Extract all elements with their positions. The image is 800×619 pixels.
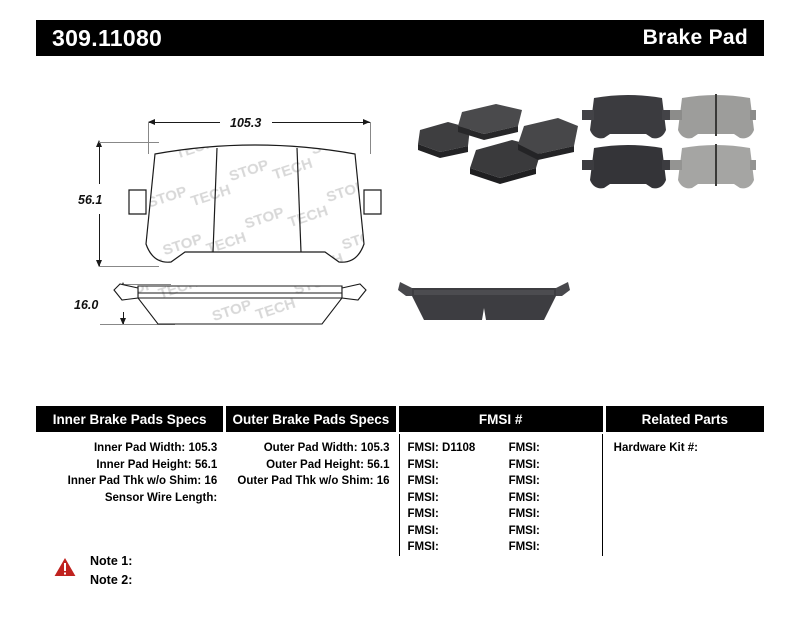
fmsi-label: FMSI: [408,475,439,487]
dimension-width-arrow-left [148,119,155,125]
warning-triangle-icon [52,555,78,579]
fmsi-row: FMSI: [509,457,602,474]
outer-spec-label: Outer Pad Height: [266,459,364,471]
product-type-label: Brake Pad [643,26,748,50]
outer-spec-value: 105.3 [361,442,390,454]
inner-spec-row: Inner Pad Thk w/o Shim: 16 [36,473,217,490]
technical-drawing-area: 105.3 56.1 16.0 STOP TECH [0,62,800,392]
fmsi-label: FMSI: [509,442,540,454]
fmsi-row: FMSI: [408,523,501,540]
fmsi-label: FMSI: [509,475,540,487]
outer-specs-cell: Outer Pad Width: 105.3 Outer Pad Height:… [226,434,395,556]
table-header-related-parts: Related Parts [606,406,764,432]
inner-spec-row: Sensor Wire Length: [36,490,217,507]
inner-spec-label: Sensor Wire Length: [105,492,217,504]
brake-pad-photo-edge-view [398,274,570,334]
fmsi-label: FMSI: [408,541,439,553]
dimension-thickness-label: 16.0 [71,298,101,312]
fmsi-label: FMSI: [509,541,540,553]
fmsi-row: FMSI: [408,490,501,507]
fmsi-label: FMSI: [408,525,439,537]
outer-spec-value: 56.1 [367,459,389,471]
part-number-label: 309.11080 [52,25,162,52]
outer-spec-row: Outer Pad Thk w/o Shim: 16 [226,473,389,490]
dimension-height-label: 56.1 [75,193,105,207]
dimension-width-label: 105.3 [227,116,264,130]
outer-spec-label: Outer Pad Thk w/o Shim: [237,475,373,487]
note-item: Note 2: [90,571,132,590]
outer-spec-label: Outer Pad Width: [264,442,358,454]
dimension-width-line-left [148,122,220,123]
fmsi-row: FMSI: [408,506,501,523]
fmsi-row: FMSI: D1108 [408,440,501,457]
inner-spec-value: 56.1 [195,459,217,471]
fmsi-row: FMSI: [509,440,602,457]
brake-pad-photo-pair-set [578,90,756,195]
fmsi-row: FMSI: [509,473,602,490]
fmsi-row: FMSI: [408,457,501,474]
brake-pad-photo-angled-set [418,94,578,184]
related-part-row: Hardware Kit #: [614,440,764,457]
inner-spec-label: Inner Pad Width: [94,442,185,454]
inner-spec-value: 105.3 [188,442,217,454]
fmsi-right-column: FMSI: FMSI: FMSI: FMSI: FMSI: [501,440,602,556]
inner-spec-label: Inner Pad Thk w/o Shim: [68,475,202,487]
inner-spec-value: 16 [204,475,217,487]
fmsi-label: FMSI: [509,459,540,471]
dimension-width-line-right [272,122,370,123]
fmsi-label: FMSI: [408,508,439,520]
brake-pad-front-outline: STOP TECH [125,140,385,275]
related-parts-cell: Hardware Kit #: [606,434,764,556]
fmsi-label: FMSI: [408,459,439,471]
table-header-row: Inner Brake Pads Specs Outer Brake Pads … [36,406,764,432]
brake-pad-side-outline [108,280,372,330]
fmsi-left-column: FMSI: D1108 FMSI: FMSI: FMSI: FMSI: [400,440,501,556]
header-bar: 309.11080 Brake Pad [36,20,764,56]
inner-spec-label: Inner Pad Height: [96,459,191,471]
specifications-table: Inner Brake Pads Specs Outer Brake Pads … [36,406,764,556]
outer-spec-row: Outer Pad Height: 56.1 [226,457,389,474]
fmsi-row: FMSI: [408,473,501,490]
fmsi-row: FMSI: [509,523,602,540]
fmsi-label: FMSI: [509,525,540,537]
fmsi-value: D1108 [442,442,475,454]
notes-area: Note 1: Note 2: [52,552,132,590]
fmsi-row: FMSI: [509,506,602,523]
outer-spec-value: 16 [377,475,390,487]
notes-list: Note 1: Note 2: [90,552,132,590]
note-item: Note 1: [90,552,132,571]
fmsi-label: FMSI: [509,492,540,504]
inner-spec-row: Inner Pad Width: 105.3 [36,440,217,457]
table-header-outer-specs: Outer Brake Pads Specs [226,406,395,432]
dimension-width-arrow-right [363,119,370,125]
fmsi-row: FMSI: [509,490,602,507]
outer-spec-row: Outer Pad Width: 105.3 [226,440,389,457]
fmsi-cell: FMSI: D1108 FMSI: FMSI: FMSI: FMSI: [399,434,603,556]
table-header-inner-specs: Inner Brake Pads Specs [36,406,223,432]
fmsi-row: FMSI: [408,539,501,556]
dimension-height-line-bottom [99,214,100,266]
table-body-row: Inner Pad Width: 105.3 Inner Pad Height:… [36,434,764,556]
related-part-label: Hardware Kit #: [614,442,698,454]
inner-specs-cell: Inner Pad Width: 105.3 Inner Pad Height:… [36,434,223,556]
inner-spec-row: Inner Pad Height: 56.1 [36,457,217,474]
fmsi-label: FMSI: [509,508,540,520]
dimension-height-line-top [99,142,100,184]
fmsi-label: FMSI: [408,442,439,454]
fmsi-label: FMSI: [408,492,439,504]
fmsi-row: FMSI: [509,539,602,556]
table-header-fmsi: FMSI # [399,406,603,432]
